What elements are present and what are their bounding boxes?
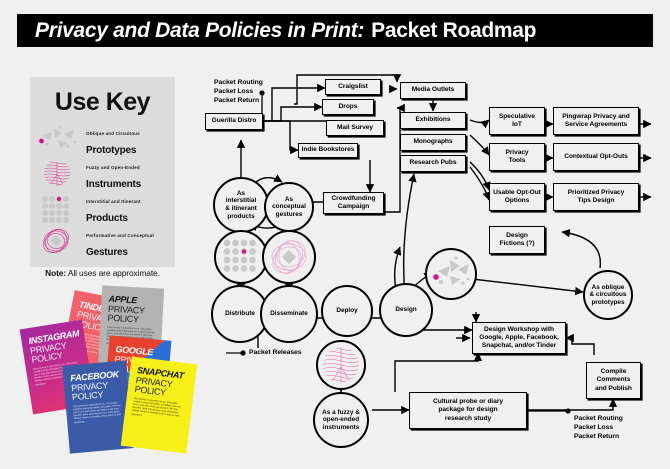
card-body-snapchat: Your privacy is important to us. This po… <box>132 396 186 421</box>
circle-as-interstitial-itinerant-products[interactable]: As interstitial & itinerant products <box>213 177 269 233</box>
box-mail-survey[interactable]: Mail Survey <box>326 120 384 136</box>
circle-design[interactable]: Design <box>379 283 433 337</box>
card-line3-apple: POLICY <box>107 314 155 326</box>
use-key-item-prototypes: Oblique and Circuitous Prototypes <box>30 123 175 157</box>
label-packet-routing-top: Packet Routing Packet Loss Packet Return <box>214 78 263 105</box>
box-speculative-iot[interactable]: Speculative IoT <box>489 107 545 135</box>
page-title-bar: Privacy and Data Policies in Print: Pack… <box>17 14 653 47</box>
box-indie-bookstores[interactable]: Indie Bookstores <box>298 143 358 158</box>
use-key-note-label: Note: <box>45 268 66 278</box>
use-key-main-gestures: Gestures <box>86 247 128 258</box>
box-design-fictions[interactable]: Design Fictions (?) <box>489 226 545 254</box>
use-key-item-products: Interstitial and Itinerant Products <box>30 191 175 225</box>
box-usable-opt-out-options[interactable]: Usable Opt-Out Options <box>489 183 545 211</box>
box-privacy-tools[interactable]: Privacy Tools <box>489 143 545 171</box>
box-monographs[interactable]: Monographs <box>400 134 466 151</box>
roadmap-poster: Privacy and Data Policies in Print: Pack… <box>0 0 670 469</box>
box-crowdfunding-campaign[interactable]: Crowdfunding Campaign <box>323 192 384 214</box>
use-key-item-instruments: Fuzzy and Open-Ended Instruments <box>30 157 175 191</box>
node-dot-packet-releases <box>240 350 245 355</box>
circle-icon-fuzzy-hatch[interactable] <box>316 340 366 390</box>
policy-card-collage: TINDER PRIVACY POLICY Your privacy is im… <box>14 286 210 461</box>
box-media-outlets[interactable]: Media Outlets <box>400 82 466 99</box>
box-craigslist[interactable]: Craigslist <box>325 79 381 95</box>
box-cultural-probe[interactable]: Cultural probe or diary package for desi… <box>409 392 527 429</box>
use-key-heading: Use Key <box>30 77 175 123</box>
use-key-sub-instruments: Fuzzy and Open-Ended <box>86 165 140 170</box>
box-exhibitions[interactable]: Exhibitions <box>400 112 466 129</box>
circle-icon-scattered-particles[interactable] <box>425 248 477 300</box>
circle-as-oblique-circuitous-prototypes[interactable]: As oblique & circuitous prototypes <box>583 270 633 320</box>
box-pingwrap-agreements[interactable]: Pingwrap Privacy and Service Agreements <box>553 107 639 135</box>
overlapping-circles-icon <box>38 226 80 258</box>
box-contextual-opt-outs[interactable]: Contextual Opt-Outs <box>553 143 639 171</box>
circle-icon-dot-grid[interactable] <box>214 230 268 284</box>
circle-deploy[interactable]: Deploy <box>321 285 373 337</box>
use-key-note: Note: All uses are approximate. <box>30 268 175 278</box>
use-key-sub-prototypes: Oblique and Circuitous <box>86 131 140 136</box>
use-key-main-instruments: Instruments <box>86 179 141 190</box>
box-compile-comments[interactable]: Compile Comments and Publish <box>586 362 641 399</box>
label-packet-routing-bottom: Packet Routing Packet Loss Packet Return <box>574 414 623 441</box>
use-key-note-text: All uses are approximate. <box>68 268 160 278</box>
circle-disseminate[interactable]: Disseminate <box>260 285 318 343</box>
box-research-pubs[interactable]: Research Pubs <box>400 155 466 172</box>
node-dot-packet-routing-bottom <box>565 408 570 413</box>
page-title-italic: Privacy and Data Policies in Print: <box>35 19 364 43</box>
dot-grid-icon <box>38 192 80 224</box>
use-key-item-gestures: Performative and Conceptual Gestures <box>30 225 175 259</box>
page-title-regular: Packet Roadmap <box>371 19 536 43</box>
box-guerilla-distro[interactable]: Guerilla Distro <box>205 113 263 130</box>
box-drops[interactable]: Drops <box>322 99 374 115</box>
use-key-sub-products: Interstitial and Itinerant <box>86 199 141 204</box>
circle-as-conceptual-gestures[interactable]: As conceptual gestures <box>264 182 314 232</box>
card-snapchat-privacy-policy[interactable]: SNAPCHAT PRIVACY POLICY Your privacy is … <box>121 356 197 453</box>
scattered-particles-icon <box>430 255 472 293</box>
overlapping-circles-icon <box>266 235 312 279</box>
fuzzy-hatch-circle-icon <box>321 345 361 385</box>
use-key-panel: Use Key Oblique and Circuitous Prototype… <box>30 77 175 267</box>
box-design-workshop[interactable]: Design Workshop with Google, Apple, Face… <box>472 322 566 354</box>
circle-icon-overlapping-circles[interactable] <box>262 230 316 284</box>
label-packet-releases: Packet Releases <box>249 348 302 357</box>
card-body-facebook: Your privacy is important to us. This po… <box>73 400 124 424</box>
dot-grid-icon <box>221 237 261 277</box>
use-key-sub-gestures: Performative and Conceptual <box>86 233 154 238</box>
use-key-main-products: Products <box>86 213 128 224</box>
use-key-main-prototypes: Prototypes <box>86 145 136 156</box>
scattered-particles-icon <box>38 124 80 156</box>
fuzzy-hatch-circle-icon <box>38 158 80 190</box>
box-prioritized-privacy-tips[interactable]: Prioritized Privacy Tips Design <box>553 183 639 211</box>
circle-as-fuzzy-open-ended-instruments[interactable]: As a fuzzy & open-ended instruments <box>313 392 369 448</box>
